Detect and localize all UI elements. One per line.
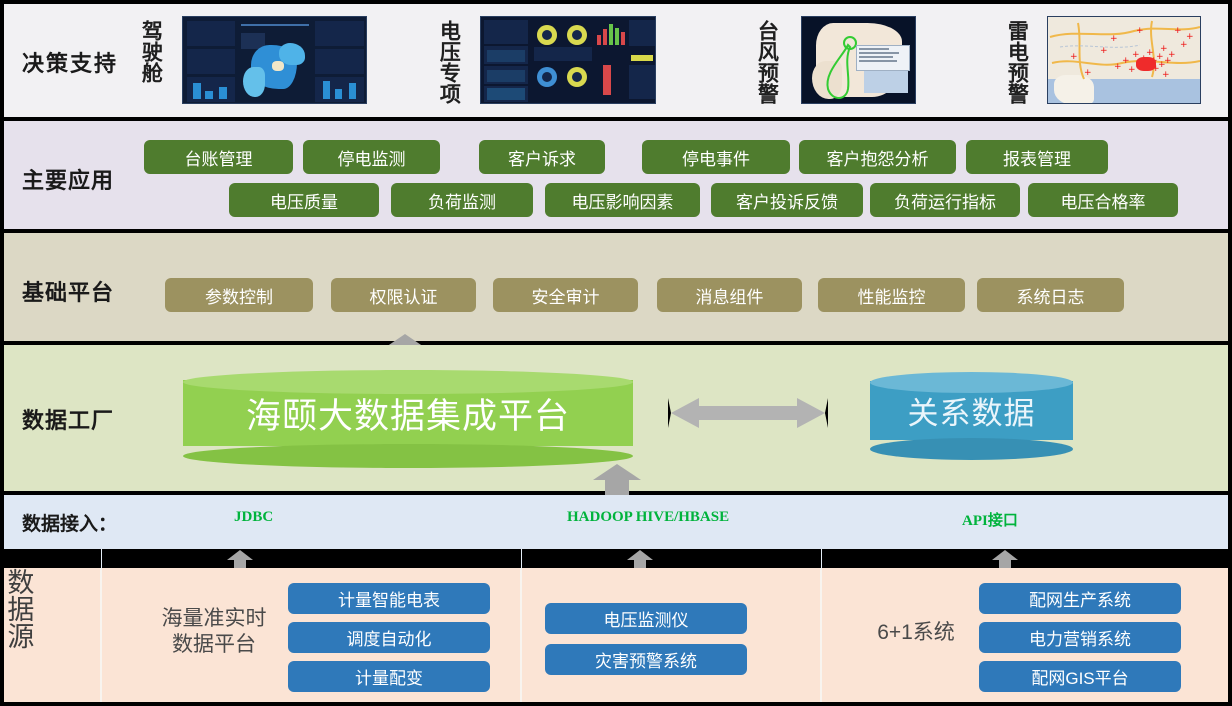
access-tag-jdbc: JDBC [234,509,273,526]
architecture-diagram: 决策支持 驾驶舱 电压专项 [0,0,1232,706]
voltage-dashboard-thumbnail[interactable] [480,16,656,104]
decision-item-label-voltage: 电压专项 [438,20,459,104]
svg-text:+: + [1084,68,1092,78]
svg-text:+: + [1114,62,1122,72]
source-divider-1 [100,568,102,702]
svg-text:+: + [1100,46,1108,56]
source-pill-g1-1[interactable]: 计量智能电表 [288,583,490,614]
app-pill-4[interactable]: 停电事件 [642,140,790,174]
svg-text:+: + [1168,50,1176,60]
source-divider-2 [520,568,522,702]
base-platform-band: 基础平台 参数控制 权限认证 安全审计 消息组件 性能监控 系统日志 [4,233,1228,341]
source-group-1-name-line1: 海量准实时 [149,606,279,632]
typhoon-track-map-thumbnail[interactable] [801,16,916,104]
app-pill-11[interactable]: 负荷运行指标 [870,183,1020,217]
data-factory-label: 数据工厂 [22,403,114,435]
decision-item-label-typhoon: 台风预警 [756,20,777,104]
main-data-store-label: 海颐大数据集成平台 [246,388,570,439]
svg-text:+: + [1128,65,1136,75]
relational-data-store-label: 关系数据 [908,388,1036,433]
source-pill-g2-1[interactable]: 电压监测仪 [545,603,747,634]
base-pill-4[interactable]: 消息组件 [657,278,802,312]
svg-text:+: + [1110,34,1118,44]
lightning-strike-map-thumbnail[interactable]: +++ +++ +++ +++ +++ +++ +++ +++ [1047,16,1201,104]
bidirectional-arrow [668,398,828,428]
source-pill-g3-3[interactable]: 配网GIS平台 [979,661,1181,692]
svg-text:+: + [1186,32,1194,42]
main-applications-label: 主要应用 [22,163,114,195]
source-pill-g1-3[interactable]: 计量配变 [288,661,490,692]
base-pill-5[interactable]: 性能监控 [818,278,965,312]
base-pill-6[interactable]: 系统日志 [977,278,1124,312]
relational-data-store-cylinder[interactable]: 关系数据 [870,372,1073,449]
app-pill-2[interactable]: 停电监测 [303,140,440,174]
base-pill-3[interactable]: 安全审计 [493,278,638,312]
data-sources-band: 数据源 海量准实时 数据平台 计量智能电表 调度自动化 计量配变 电压监测仪 灾… [4,568,1228,702]
svg-text:+: + [1162,70,1170,80]
source-group-1-name-line2: 数据平台 [149,632,279,658]
app-pill-3[interactable]: 客户诉求 [479,140,605,174]
base-pill-2[interactable]: 权限认证 [331,278,476,312]
arrow-up-access-to-factory [593,464,641,495]
access-tag-api: API接口 [962,509,1018,530]
app-pill-1[interactable]: 台账管理 [144,140,293,174]
app-pill-5[interactable]: 客户抱怨分析 [799,140,956,174]
base-pill-1[interactable]: 参数控制 [165,278,313,312]
arrow-up-source-2 [627,550,653,568]
decision-support-band: 决策支持 驾驶舱 电压专项 [4,4,1228,117]
separator-tick-3 [821,549,822,569]
svg-text:+: + [1136,26,1144,36]
access-tag-hadoop: HADOOP HIVE/HBASE [567,509,729,526]
decision-item-label-cockpit: 驾驶舱 [140,20,161,83]
app-pill-10[interactable]: 客户投诉反馈 [711,183,863,217]
main-applications-band: 主要应用 台账管理 停电监测 客户诉求 停电事件 客户抱怨分析 报表管理 电压质… [4,121,1228,229]
main-data-store-cylinder[interactable]: 海颐大数据集成平台 [183,370,633,456]
source-pill-g3-1[interactable]: 配网生产系统 [979,583,1181,614]
app-pill-7[interactable]: 电压质量 [229,183,379,217]
source-group-1-name: 海量准实时 数据平台 [149,606,279,659]
source-divider-3 [820,568,822,702]
app-pill-8[interactable]: 负荷监测 [391,183,533,217]
source-pill-g1-2[interactable]: 调度自动化 [288,622,490,653]
base-platform-label: 基础平台 [22,275,114,307]
source-pill-g3-2[interactable]: 电力营销系统 [979,622,1181,653]
data-sources-label: 数据源 [4,568,32,649]
decision-item-label-lightning: 雷电预警 [1006,20,1027,104]
decision-support-label: 决策支持 [22,46,118,78]
svg-text:+: + [1160,44,1168,54]
app-pill-12[interactable]: 电压合格率 [1028,183,1178,217]
app-pill-9[interactable]: 电压影响因素 [545,183,700,217]
svg-text:+: + [1070,52,1078,62]
app-pill-6[interactable]: 报表管理 [966,140,1108,174]
svg-text:+: + [1174,26,1182,36]
data-access-band: 数据接入： JDBC HADOOP HIVE/HBASE API接口 [4,495,1228,549]
dashboard-cockpit-thumbnail[interactable] [182,16,367,104]
source-group-3-name: 6+1系统 [856,620,976,646]
arrow-up-source-3 [992,550,1018,568]
arrow-up-source-1 [227,550,253,568]
separator-tick-1 [101,549,102,569]
separator-tick-2 [521,549,522,569]
data-access-label: 数据接入： [22,509,117,536]
source-pill-g2-2[interactable]: 灾害预警系统 [545,644,747,675]
